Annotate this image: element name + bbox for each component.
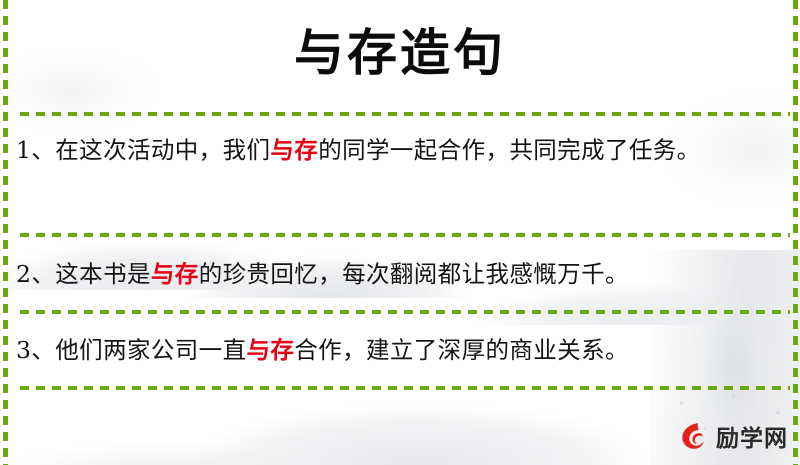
site-logo: 励学网: [676, 419, 788, 453]
sentence-3-after: 合作，建立了深厚的商业关系。: [294, 336, 629, 364]
red-swirl-flame-icon: [676, 419, 710, 453]
sentence-item-2: 2、这本书是与存的珍贵回忆，每次翻阅都让我感慨万千。: [16, 252, 778, 296]
sentence-3-before: 他们两家公司一直: [55, 336, 246, 364]
sentence-1-keyword: 与存: [270, 136, 318, 164]
sentence-card-page: 与存造句 1、在这次活动中，我们与存的同学一起合作，共同完成了任务。 2、这本书…: [0, 0, 800, 465]
sentence-1-number: 1、: [16, 136, 55, 164]
divider-above-sentence-3: [20, 310, 790, 314]
sentence-item-1: 1、在这次活动中，我们与存的同学一起合作，共同完成了任务。: [16, 128, 778, 172]
sentence-2-number: 2、: [16, 260, 55, 288]
sentence-item-3: 3、他们两家公司一直与存合作，建立了深厚的商业关系。: [16, 328, 778, 372]
sentence-1-before: 在这次活动中，我们: [55, 136, 270, 164]
sentence-2-keyword: 与存: [151, 260, 199, 288]
page-title: 与存造句: [0, 22, 800, 84]
sentence-2-after: 的珍贵回忆，每次翻阅都让我感慨万千。: [199, 260, 629, 288]
sentence-3-keyword: 与存: [246, 336, 294, 364]
ink-wash-decoration: [0, 395, 420, 465]
divider-above-sentence-2: [20, 233, 790, 237]
site-logo-text: 励学网: [716, 419, 788, 453]
sentence-1-after: 的同学一起合作，共同完成了任务。: [318, 136, 700, 164]
sentence-3-number: 3、: [16, 336, 55, 364]
divider-below-sentence-3: [20, 386, 790, 390]
sentence-2-before: 这本书是: [55, 260, 151, 288]
divider-above-sentence-1: [20, 112, 790, 116]
